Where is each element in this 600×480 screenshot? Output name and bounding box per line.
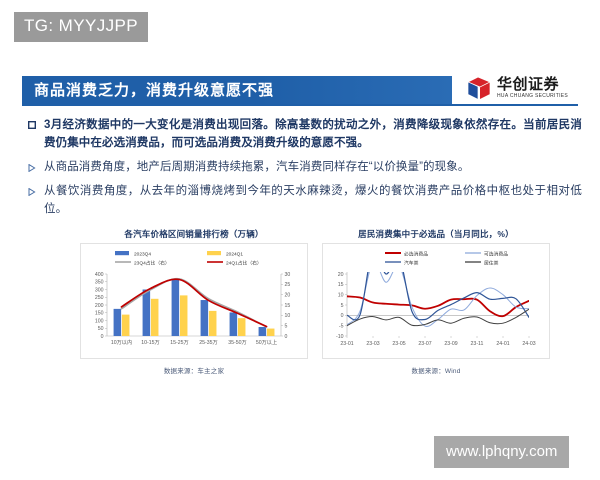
charts-row: 各汽车价格区间销量排行榜（万辆） 2023Q42024Q123Q4占比（右）24…	[80, 228, 550, 388]
svg-text:0: 0	[285, 334, 288, 340]
bullet-text: 从餐饮消费角度，从去年的淄博烧烤到今年的天水麻辣烫，爆火的餐饮消费产品价格中枢也…	[44, 182, 582, 218]
header-divider	[22, 104, 578, 106]
svg-text:20: 20	[338, 272, 344, 278]
svg-text:50: 50	[98, 326, 104, 332]
svg-text:-5: -5	[339, 323, 344, 329]
arrow-bullet-icon	[22, 158, 44, 172]
bullet-item: 从商品消费角度，地产后周期消费持续拖累，汽车消费同样存在“以价换量”的现象。	[22, 158, 582, 176]
svg-text:23-05: 23-05	[392, 341, 405, 347]
top-watermark-tag: TG: MYYJJPP	[14, 12, 148, 42]
svg-text:200: 200	[95, 303, 104, 309]
svg-text:23-07: 23-07	[418, 341, 431, 347]
chart-source: 数据来源：Wind	[322, 365, 550, 375]
svg-text:2024Q1: 2024Q1	[226, 252, 243, 258]
svg-text:10: 10	[338, 292, 344, 298]
svg-text:15-25万: 15-25万	[170, 339, 188, 346]
huachuang-cube-icon	[466, 75, 492, 101]
svg-text:35-50万: 35-50万	[228, 339, 246, 346]
svg-text:100: 100	[95, 318, 104, 324]
svg-text:25-35万: 25-35万	[199, 339, 217, 346]
brand-logo: 华创证券 HUA CHUANG SECURITIES	[466, 72, 578, 104]
logo-name-en: HUA CHUANG SECURITIES	[497, 94, 568, 99]
bullet-text: 从商品消费角度，地产后周期消费持续拖累，汽车消费同样存在“以价换量”的现象。	[44, 158, 582, 176]
site-watermark: www.lphqny.com	[434, 436, 569, 468]
svg-text:可选消费品: 可选消费品	[484, 251, 508, 258]
svg-text:5: 5	[341, 303, 344, 309]
bullet-item: 3月经济数据中的一大变化是消费出现回落。除高基数的扰动之外，消费降级现象依然存在…	[22, 116, 582, 152]
svg-text:23Q4占比（右）: 23Q4占比（右）	[134, 260, 170, 267]
square-bullet-icon	[22, 116, 44, 129]
svg-text:-10: -10	[336, 334, 344, 340]
svg-text:250: 250	[95, 295, 104, 301]
svg-text:2023Q4: 2023Q4	[134, 252, 151, 258]
bullet-text: 3月经济数据中的一大变化是消费出现回落。除高基数的扰动之外，消费降级现象依然存在…	[44, 116, 582, 152]
chart-resident-consumption-yoy: 居民消费集中于必选品（当月同比，%） 必选消费品可选消费品汽车类居住类-10-5…	[322, 228, 550, 388]
chart-source: 数据来源：车主之家	[80, 365, 308, 375]
svg-text:30: 30	[285, 272, 291, 278]
chart-plot-frame: 2023Q42024Q123Q4占比（右）24Q1占比（右）0501001502…	[80, 243, 308, 359]
chart-title: 各汽车价格区间销量排行榜（万辆）	[80, 228, 308, 240]
svg-text:5: 5	[285, 323, 288, 329]
svg-text:23-11: 23-11	[471, 341, 484, 347]
svg-text:居住类: 居住类	[484, 260, 499, 267]
chart-auto-price-band-sales: 各汽车价格区间销量排行榜（万辆） 2023Q42024Q123Q4占比（右）24…	[80, 228, 308, 388]
svg-text:25: 25	[285, 282, 291, 288]
bullet-item: 从餐饮消费角度，从去年的淄博烧烤到今年的天水麻辣烫，爆火的餐饮消费产品价格中枢也…	[22, 182, 582, 218]
svg-text:400: 400	[95, 272, 104, 278]
svg-text:23-03: 23-03	[366, 341, 379, 347]
svg-text:0: 0	[101, 334, 104, 340]
logo-name-cn: 华创证券	[497, 77, 568, 92]
svg-text:10万以内: 10万以内	[111, 338, 132, 346]
line-chart-canvas: 必选消费品可选消费品汽车类居住类-10-50510152023-0123-032…	[323, 244, 549, 358]
chart-title: 居民消费集中于必选品（当月同比，%）	[322, 228, 550, 240]
svg-text:23-01: 23-01	[340, 341, 353, 347]
svg-text:0: 0	[341, 313, 344, 319]
svg-text:150: 150	[95, 311, 104, 317]
svg-text:24-01: 24-01	[496, 341, 509, 347]
svg-text:24Q1占比（右）: 24Q1占比（右）	[226, 260, 262, 267]
svg-text:必选消费品: 必选消费品	[404, 251, 428, 258]
page-title: 商品消费乏力，消费升级意愿不强	[34, 79, 274, 100]
chart-plot-frame: 必选消费品可选消费品汽车类居住类-10-50510152023-0123-032…	[322, 243, 550, 359]
svg-text:50万以上: 50万以上	[256, 338, 277, 346]
svg-text:汽车类: 汽车类	[404, 260, 419, 267]
svg-text:300: 300	[95, 287, 104, 293]
svg-text:10: 10	[285, 313, 291, 319]
svg-text:15: 15	[285, 303, 291, 309]
svg-text:20: 20	[285, 292, 291, 298]
svg-text:10-15万: 10-15万	[141, 339, 159, 346]
svg-text:23-09: 23-09	[444, 341, 457, 347]
svg-text:350: 350	[95, 280, 104, 286]
arrow-bullet-icon	[22, 182, 44, 196]
bar-chart-canvas: 2023Q42024Q123Q4占比（右）24Q1占比（右）0501001502…	[81, 244, 307, 358]
body-bullet-list: 3月经济数据中的一大变化是消费出现回落。除高基数的扰动之外，消费降级现象依然存在…	[22, 116, 582, 224]
svg-text:15: 15	[338, 282, 344, 288]
svg-text:24-03: 24-03	[522, 341, 535, 347]
